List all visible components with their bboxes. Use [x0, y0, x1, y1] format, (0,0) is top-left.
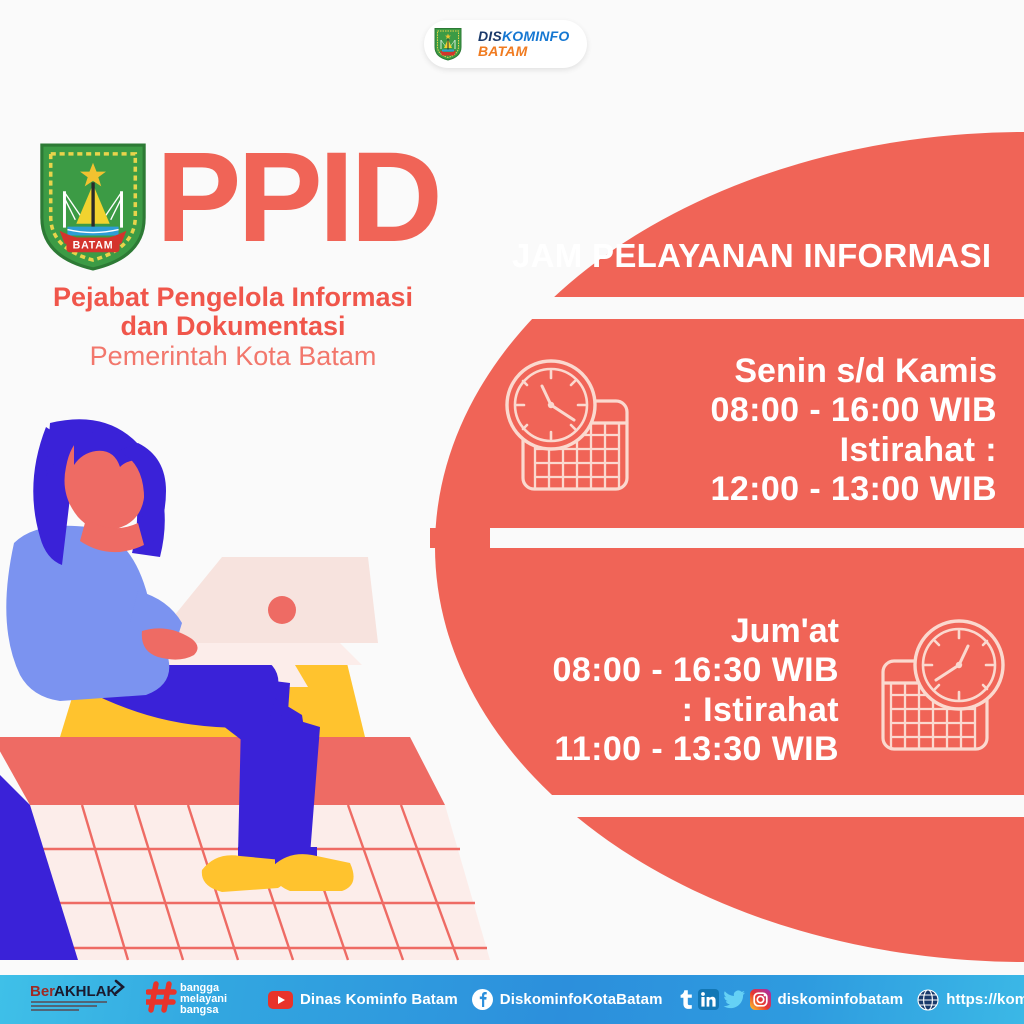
berakhlak-logo: Ber AKHLAK: [28, 979, 132, 1020]
poster-canvas: DISKOMINFO BATAM BATAM PPID: [0, 0, 1024, 1024]
svg-text:Ber: Ber: [30, 983, 55, 1000]
illustration-woman-on-calendar: [0, 415, 490, 980]
schedule-senin-kamis: Senin s/d Kamis 08:00 - 16:00 WIB Istira…: [495, 352, 1015, 510]
schedule-break-hours: 11:00 - 13:30 WIB: [510, 730, 839, 769]
footer-website-label: https://kominfo.batam.go.id: [946, 991, 1024, 1008]
svg-text:AKHLAK: AKHLAK: [54, 983, 117, 1000]
batam-city-emblem-icon: [428, 24, 468, 64]
batam-city-emblem-large-icon: BATAM: [34, 136, 152, 281]
svg-text:bangsa: bangsa: [180, 1004, 219, 1016]
footer-facebook-label: DiskominfoKotaBatam: [500, 991, 663, 1008]
footer-social-account[interactable]: diskominfobatam: [677, 989, 904, 1010]
schedule-jumat-text: Jum'at 08:00 - 16:30 WIB : Istirahat 11:…: [510, 612, 845, 770]
globe-icon: [917, 989, 939, 1011]
ppid-subtitle-line2: dan Dokumentasi: [38, 312, 428, 341]
ppid-acronym: PPID: [156, 146, 439, 251]
svg-text:BATAM: BATAM: [73, 239, 114, 251]
footer-facebook-account[interactable]: DiskominfoKotaBatam: [472, 989, 663, 1010]
ppid-subtitle-line3: Pemerintah Kota Batam: [38, 340, 428, 373]
schedule-senin-kamis-text: Senin s/d Kamis 08:00 - 16:00 WIB Istira…: [669, 352, 1015, 510]
schedule-break-label: : Istirahat: [510, 691, 839, 730]
twitter-icon: [723, 989, 746, 1010]
schedule-break-label: Istirahat :: [669, 431, 997, 470]
linkedin-icon: [698, 989, 719, 1010]
youtube-icon: [268, 991, 293, 1009]
footer-youtube-label: Dinas Kominfo Batam: [300, 991, 458, 1008]
footer-social-label: diskominfobatam: [778, 991, 904, 1008]
ppid-heading-row: BATAM PPID: [34, 136, 439, 281]
divider-top: [426, 297, 1024, 319]
schedule-jumat: Jum'at 08:00 - 16:30 WIB : Istirahat 11:…: [510, 612, 1015, 770]
schedule-day-label: Senin s/d Kamis: [669, 352, 997, 391]
instagram-icon: [750, 989, 771, 1010]
footer-bar: Ber AKHLAK bangga melayani: [0, 975, 1024, 1024]
schedule-break-hours: 12:00 - 13:00 WIB: [669, 470, 997, 509]
tumblr-icon: [677, 989, 694, 1010]
badge-batam-text: BATAM: [478, 44, 569, 59]
facebook-icon: [472, 989, 493, 1010]
schedule-hours: 08:00 - 16:30 WIB: [510, 651, 839, 690]
calendar-clock-icon: [865, 613, 1015, 768]
divider-lower: [426, 795, 1024, 817]
divider-middle: [430, 528, 1024, 548]
schedule-day-label: Jum'at: [510, 612, 839, 651]
ppid-subtitle: Pejabat Pengelola Informasi dan Dokument…: [38, 283, 428, 373]
diskominfo-badge[interactable]: DISKOMINFO BATAM: [424, 20, 587, 68]
ppid-subtitle-line1: Pejabat Pengelola Informasi: [38, 283, 428, 312]
diskominfo-badge-text: DISKOMINFO BATAM: [478, 29, 569, 58]
footer-social-iconset: [677, 989, 771, 1010]
clock-calendar-icon: [495, 353, 645, 508]
panel-title: JAM PELAYANAN INFORMASI: [512, 237, 1012, 275]
footer-youtube-account[interactable]: Dinas Kominfo Batam: [268, 991, 458, 1009]
bangga-melayani-bangsa-logo: bangga melayani bangsa: [146, 978, 242, 1021]
footer-website-link[interactable]: https://kominfo.batam.go.id: [917, 989, 1024, 1011]
schedule-hours: 08:00 - 16:00 WIB: [669, 391, 997, 430]
